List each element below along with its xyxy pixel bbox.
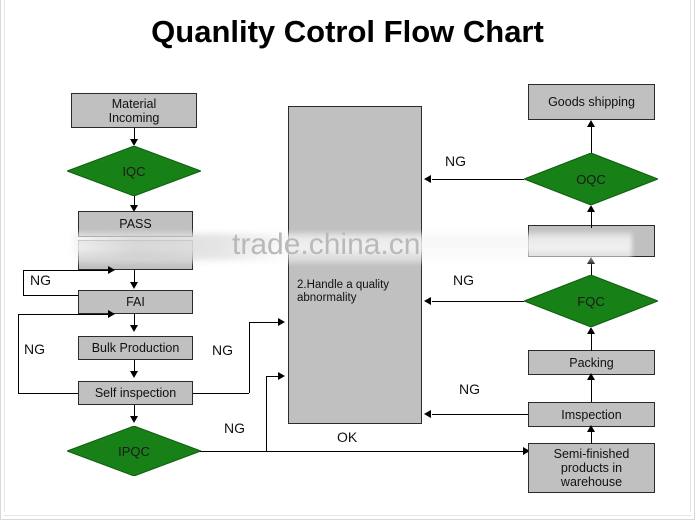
edge-imspection-to-packing xyxy=(591,378,592,402)
edge-ipqc-ng-vertical xyxy=(266,376,267,451)
node-iqc-label: IQC xyxy=(122,164,145,179)
edge-ng-loop1-arrowhead xyxy=(108,266,115,274)
edge-packing-to-fqc-arrowhead xyxy=(587,327,595,334)
edge-self-ng-to-center-h2 xyxy=(249,322,281,323)
flowchart-canvas: Quanlity Cotrol Flow Chart Material Inco… xyxy=(0,0,695,520)
node-handle-abnormality-line1: 2.Handle a quality xyxy=(297,279,417,292)
node-obscured-right xyxy=(528,225,655,257)
node-material-incoming-line1: Material xyxy=(112,97,156,111)
node-handle-abnormality-line2: abnormality xyxy=(297,292,417,305)
node-imspection: Imspection xyxy=(528,402,655,427)
edge-material-to-iqc-arrowhead xyxy=(130,139,138,146)
node-oqc-label: OQC xyxy=(576,172,606,187)
node-goods-shipping: Goods shipping xyxy=(528,84,655,120)
node-handle-abnormality: 2.Handle a quality abnormality xyxy=(288,106,422,424)
edge-self-ng-to-center-h1 xyxy=(193,393,249,394)
label-ng-selfinspect-loop: NG xyxy=(24,341,45,357)
node-fai: FAI xyxy=(78,290,193,314)
label-ng-oqc: NG xyxy=(445,153,466,169)
edge-obscured-to-fai-arrowhead xyxy=(130,282,138,289)
node-fqc: FQC xyxy=(524,275,658,327)
edge-imspection-to-packing-arrowhead xyxy=(587,373,595,380)
frame-border-right-inner xyxy=(690,0,691,512)
edge-ng-loop2-arrowhead xyxy=(108,310,115,318)
node-pass: PASS xyxy=(78,211,193,237)
edge-self-ng-to-center-arrowhead xyxy=(278,318,285,326)
node-semi-finished-line1: Semi-finished xyxy=(554,447,630,461)
node-imspection-label: Imspection xyxy=(561,408,621,422)
node-obscured-left xyxy=(78,240,193,270)
label-ng-fqc: NG xyxy=(453,272,474,288)
edge-ng-loop1-bottom xyxy=(23,295,78,296)
edge-bulk-to-self-arrowhead xyxy=(130,371,138,378)
label-ng-center-upper: NG xyxy=(212,342,233,358)
frame-border-left xyxy=(0,0,1,520)
edge-oqc-ng-horizontal xyxy=(432,179,524,180)
edge-ng-loop2-bottom xyxy=(18,393,78,394)
edge-self-to-ipqc-arrowhead xyxy=(130,416,138,423)
node-material-incoming-line2: Incoming xyxy=(109,111,160,125)
page-title: Quanlity Cotrol Flow Chart xyxy=(0,14,695,50)
edge-fqc-to-obscuredright-arrowhead xyxy=(587,257,595,264)
edge-ipqc-ng-arrowhead xyxy=(278,372,285,380)
edge-oqc-to-goods-arrowhead xyxy=(587,120,595,127)
node-ipqc: IPQC xyxy=(67,426,201,476)
frame-border-left-inner xyxy=(4,0,5,512)
node-fqc-label: FQC xyxy=(577,294,604,309)
edge-ng-loop2-top xyxy=(18,314,113,315)
edge-imspection-ng-arrowhead xyxy=(424,410,431,418)
node-ipqc-label: IPQC xyxy=(118,444,150,459)
node-goods-shipping-label: Goods shipping xyxy=(548,95,635,109)
node-self-inspection-label: Self inspection xyxy=(95,386,176,400)
node-fai-label: FAI xyxy=(126,295,145,309)
label-ok-bottom: OK xyxy=(337,429,357,445)
edge-obscuredright-to-oqc xyxy=(591,212,592,228)
node-semi-finished: Semi-finished products in warehouse xyxy=(528,443,655,493)
label-ng-ipqc: NG xyxy=(224,420,245,436)
edge-imspection-ng-horizontal xyxy=(432,414,528,415)
node-iqc: IQC xyxy=(67,146,201,196)
edge-obscuredright-to-oqc-arrowhead xyxy=(587,205,595,212)
node-handle-abnormality-text: 2.Handle a quality abnormality xyxy=(297,279,417,305)
node-bulk-production: Bulk Production xyxy=(78,336,193,360)
edge-ng-loop1-vertical xyxy=(23,270,24,295)
edge-semi-to-imspection-arrowhead xyxy=(587,425,595,432)
node-self-inspection: Self inspection xyxy=(78,381,193,405)
node-material-incoming: Material Incoming xyxy=(71,93,197,128)
node-packing: Packing xyxy=(528,350,655,375)
edge-semi-to-imspection xyxy=(591,430,592,444)
edge-oqc-to-goods xyxy=(591,126,592,153)
node-packing-label: Packing xyxy=(569,356,613,370)
node-oqc: OQC xyxy=(524,153,658,205)
frame-border-bottom-inner xyxy=(4,515,691,516)
edge-packing-to-fqc xyxy=(591,333,592,351)
edge-fai-to-bulk-arrowhead xyxy=(130,325,138,332)
edge-ng-loop2-vertical xyxy=(18,314,19,393)
node-bulk-production-label: Bulk Production xyxy=(92,341,180,355)
label-ng-imspection: NG xyxy=(459,381,480,397)
edge-ipqc-ok-bottom xyxy=(200,451,531,452)
edge-oqc-ng-arrowhead xyxy=(424,175,431,183)
edge-self-ng-to-center-v xyxy=(249,322,250,393)
edge-fqc-ng-arrowhead xyxy=(424,297,431,305)
node-semi-finished-line3: warehouse xyxy=(561,475,622,489)
node-semi-finished-line2: products in xyxy=(561,461,622,475)
edge-fqc-ng-horizontal xyxy=(432,301,524,302)
label-ng-pass-loop: NG xyxy=(30,272,51,288)
edge-ng-loop1-top xyxy=(23,270,113,271)
node-pass-label: PASS xyxy=(119,217,151,231)
